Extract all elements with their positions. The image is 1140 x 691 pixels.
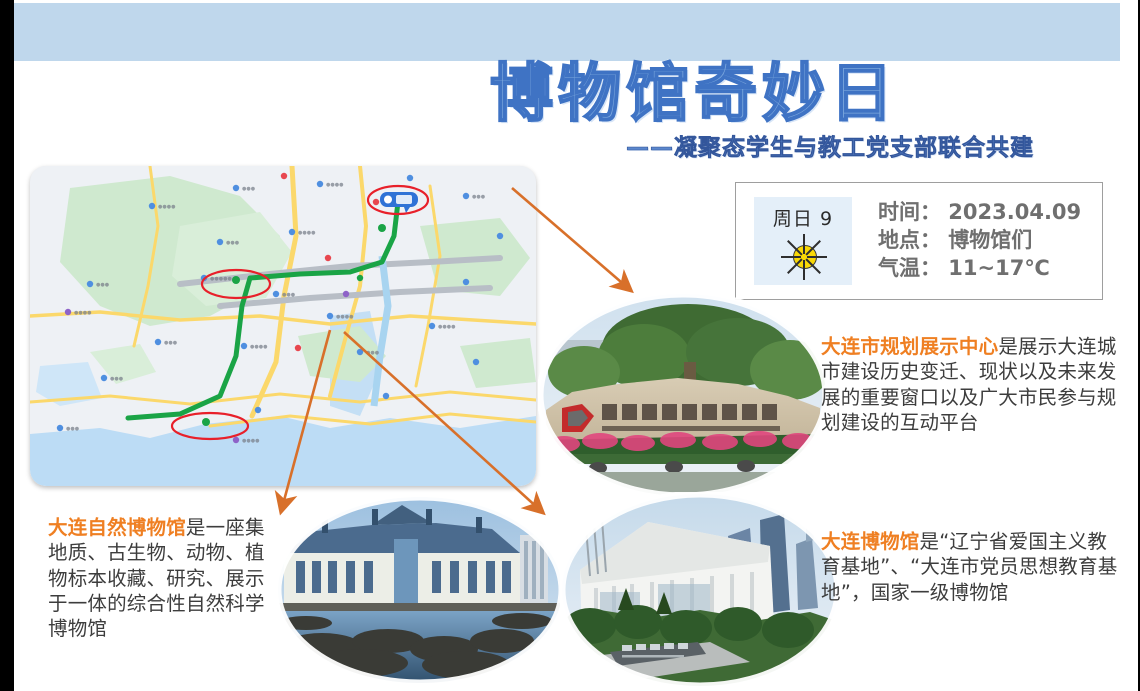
svg-text:●●●●: ●●●● [336,314,354,320]
event-info-box: 周日 9 时间： 2023.04.09 地点： 博物馆们 气温： 11~17℃ [735,182,1103,300]
svg-text:●●●●●: ●●●●● [210,276,232,282]
svg-text:●●●●: ●●●● [158,204,176,210]
info-row-temp: 气温： 11~17℃ [878,255,1081,283]
weather-day-label: 周日 9 [773,204,833,231]
map-graphic: ●●●●●●●●●●● ●●●●●●●●●●●● ●●●●●●●●●● ●●●●… [30,166,536,486]
info-row-place: 地点： 博物馆们 [878,227,1081,255]
svg-text:●●●: ●●● [110,376,124,382]
svg-text:●●●: ●●● [164,340,178,346]
top-banner [14,3,1120,61]
svg-text:●●●: ●●● [96,282,110,288]
photo-dalian-museum [560,492,840,688]
info-row-time: 时间： 2023.04.09 [878,199,1081,227]
blurb-planning-highlight: 大连市规划展示中心 [821,335,998,358]
svg-text:●●●●: ●●●● [250,344,268,350]
sun-icon [778,235,828,279]
blurb-planning-center: 大连市规划展示中心是展示大连城市建设历史变迁、现状以及未来发展的重要窗口以及广大… [821,334,1121,435]
event-info-text: 时间： 2023.04.09 地点： 博物馆们 气温： 11~17℃ [878,199,1081,283]
blurb-dalian-highlight: 大连博物馆 [821,530,920,553]
blurb-dalian-museum: 大连博物馆是“辽宁省爱国主义教育基地”、“大连市党员思想教育基地”，国家一级博物… [821,529,1121,605]
left-edge-bar [0,0,14,691]
svg-text:●●●: ●●● [226,240,240,246]
blurb-natural-highlight: 大连自然博物馆 [48,516,186,539]
dalian-route-map[interactable]: ●●●●●●●●●●● ●●●●●●●●●●●● ●●●●●●●●●● ●●●●… [30,166,536,486]
svg-text:●●●●: ●●●● [242,438,260,444]
slide-page: 博物馆奇妙日 ——凝聚态学生与教工党支部联合共建 周日 9 [0,0,1140,691]
svg-text:●●●●: ●●●● [438,324,456,330]
weather-card: 周日 9 [754,197,852,285]
svg-text:●●●: ●●● [242,186,256,192]
photo-planning-exhibition-center [538,292,828,498]
page-title: 博物馆奇妙日 [344,62,1044,126]
photo-natural-history-museum [276,495,564,685]
svg-text:●●●●: ●●●● [326,182,344,188]
svg-text:●●●●: ●●●● [74,310,92,316]
svg-text:●●●●: ●●●● [298,230,316,236]
slide-canvas: 博物馆奇妙日 ——凝聚态学生与教工党支部联合共建 周日 9 [14,0,1138,691]
page-subtitle: ——凝聚态学生与教工党支部联合共建 [344,128,1044,162]
blurb-natural-museum: 大连自然博物馆是一座集地质、古生物、动物、植物标本收藏、研究、展示于一体的综合性… [48,515,280,642]
title-block: 博物馆奇妙日 ——凝聚态学生与教工党支部联合共建 [344,62,1044,162]
svg-text:●●●: ●●● [66,426,80,432]
svg-text:●●●: ●●● [282,292,296,298]
svg-text:●●●: ●●● [366,350,380,356]
svg-text:●●●: ●●● [472,194,486,200]
